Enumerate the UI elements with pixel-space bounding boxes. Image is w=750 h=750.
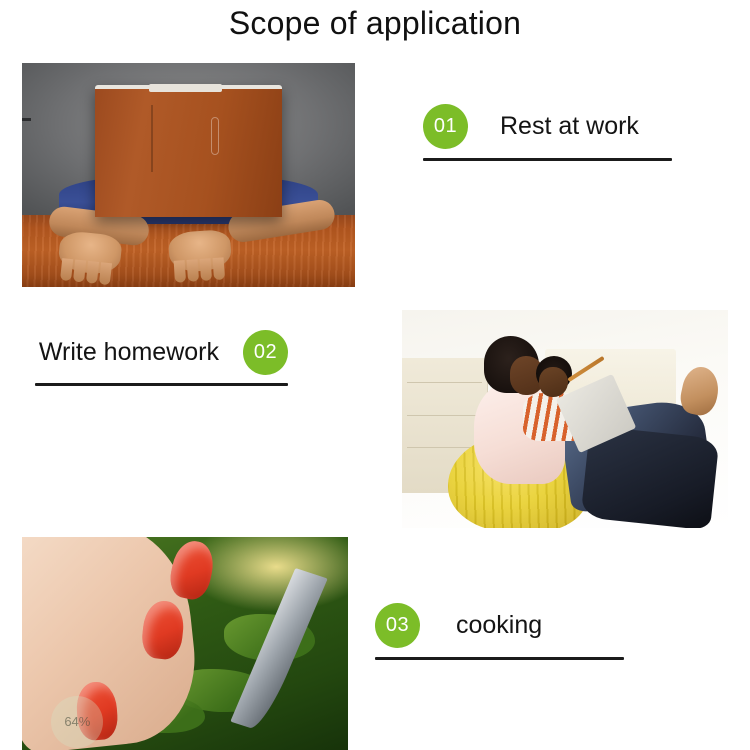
caption-label-cooking: cooking	[456, 611, 542, 640]
desk-scene	[22, 63, 355, 287]
caption-item-cooking: 03 cooking	[375, 603, 624, 660]
caption-item-write-homework: Write homework 02	[35, 330, 288, 386]
photo-cooking: 64%	[22, 537, 348, 750]
page-title: Scope of application	[0, 2, 750, 44]
caption-underline	[423, 158, 672, 161]
caption-row: Write homework 02	[35, 330, 288, 375]
caption-label-write-homework: Write homework	[39, 338, 219, 367]
laptop-top-edge	[149, 84, 222, 92]
badge-number-01: 01	[423, 104, 468, 149]
caption-row: 03 cooking	[375, 603, 624, 648]
wall-seam	[22, 118, 31, 121]
cutting-vegetables-scene: 64%	[22, 537, 348, 750]
badge-number-03: 03	[375, 603, 420, 648]
laptop-lid	[95, 85, 281, 217]
watermark-badge: 64%	[51, 696, 103, 748]
caption-item-rest-at-work: 01 Rest at work	[423, 104, 672, 161]
photo-write-homework	[402, 310, 728, 528]
badge-number-02: 02	[243, 330, 288, 375]
laptop-seam	[151, 105, 153, 173]
caption-underline	[35, 383, 288, 386]
caption-label-rest-at-work: Rest at work	[500, 112, 639, 141]
photo-rest-at-work	[22, 63, 355, 287]
caption-row: 01 Rest at work	[423, 104, 672, 149]
living-room-scene	[402, 310, 728, 528]
laptop-latch	[211, 117, 219, 155]
caption-underline	[375, 657, 624, 660]
right-hand	[167, 229, 232, 273]
